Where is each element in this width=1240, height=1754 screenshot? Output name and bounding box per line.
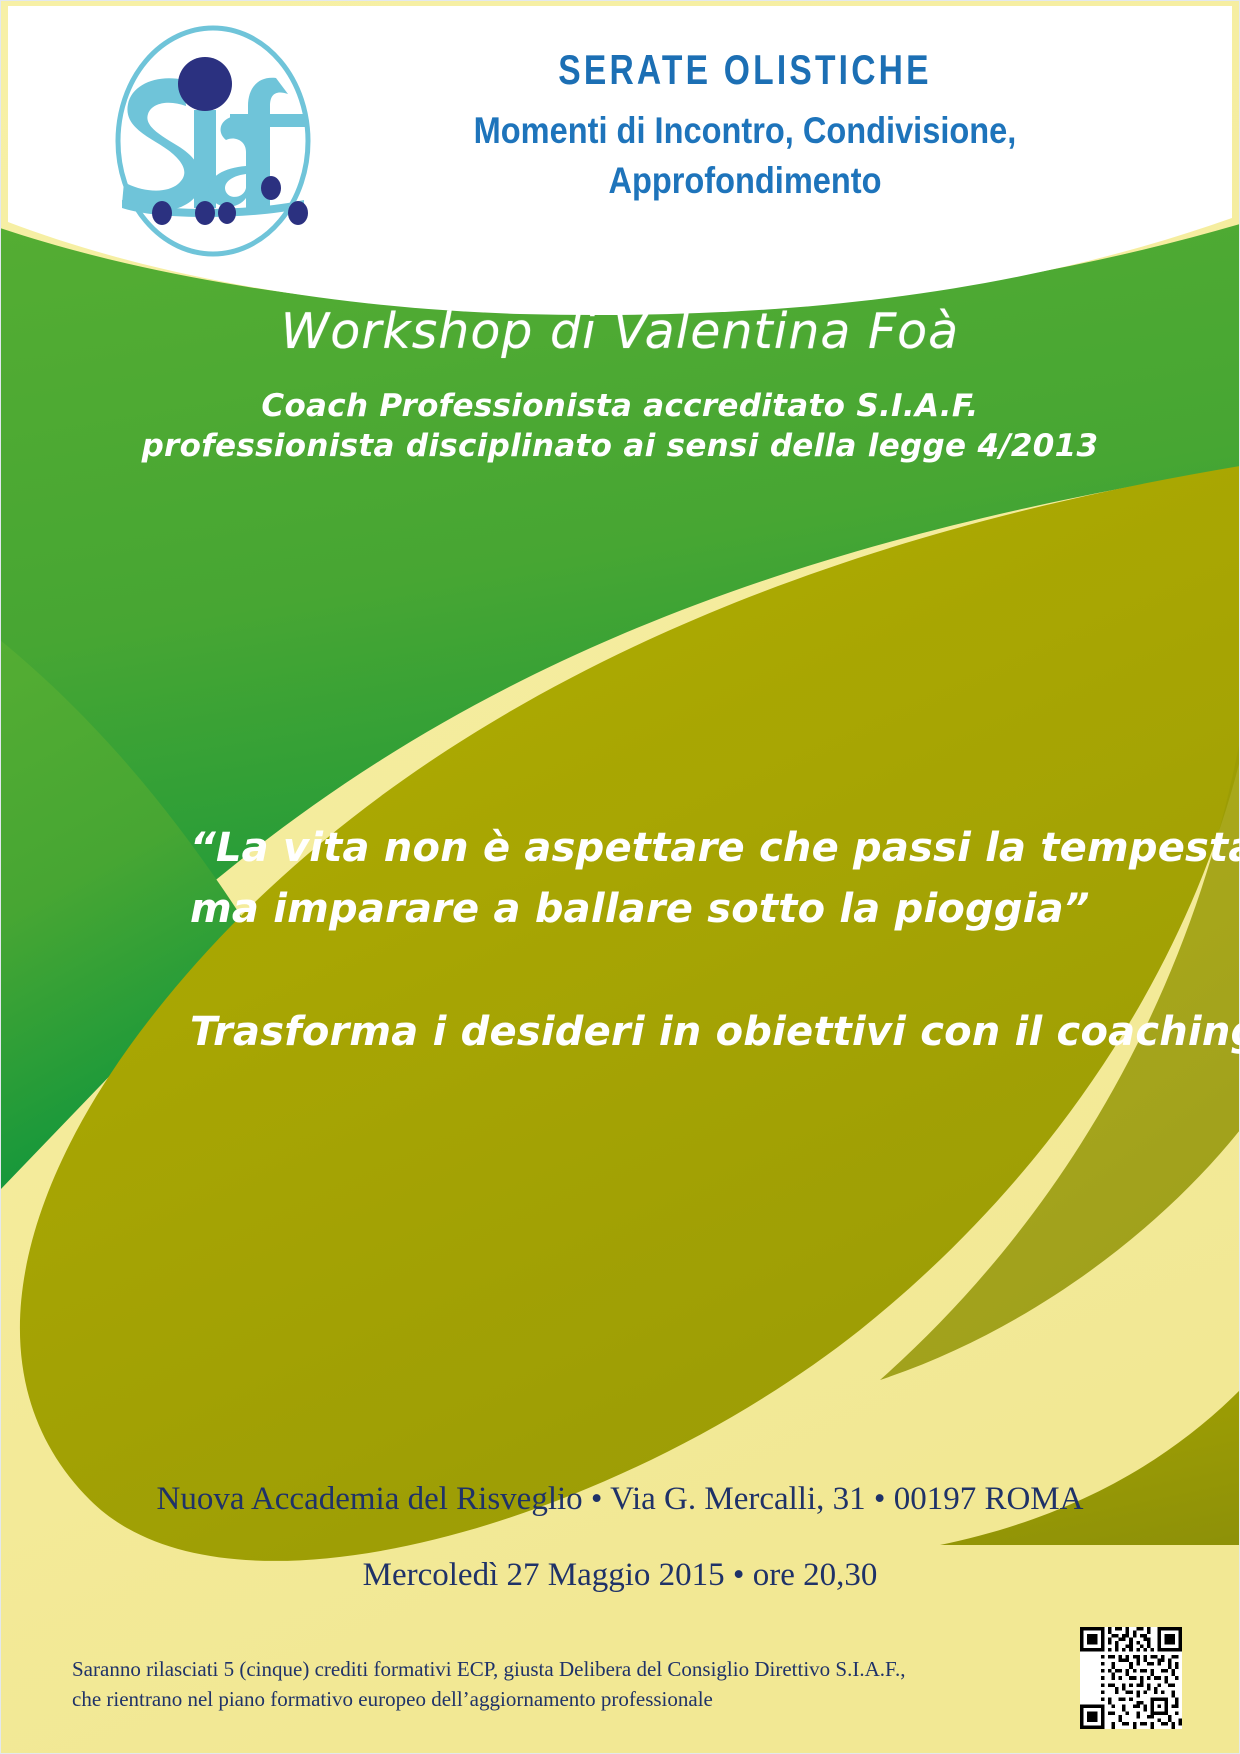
qr-code-icon[interactable]	[1080, 1627, 1182, 1729]
credits-line-1: Saranno rilasciati 5 (cinque) crediti fo…	[72, 1654, 972, 1684]
header-title-block: SERATE OLISTICHE Momenti di Incontro, Co…	[330, 48, 1160, 206]
siaf-logo	[98, 22, 328, 260]
datetime-line: Mercoledì 27 Maggio 2015 • ore 20,30	[0, 1556, 1240, 1596]
quote-line-1: “La vita non è aspettare che passi la te…	[190, 818, 1100, 879]
workshop-title: Workshop di Valentina Foà	[0, 305, 1240, 359]
footer-block: Nuova Accademia del Risveglio • Via G. M…	[0, 1480, 1240, 1595]
poster-subtitle: Momenti di Incontro, Condivisione, Appro…	[380, 106, 1110, 206]
workshop-block: Workshop di Valentina Foà Coach Professi…	[0, 305, 1240, 466]
credential-block: Coach Professionista accreditato S.I.A.F…	[0, 387, 1240, 466]
quote-line-2: ma imparare a ballare sotto la pioggia”	[190, 879, 1100, 940]
credential-line-1: Coach Professionista accreditato S.I.A.F…	[261, 388, 978, 424]
venue-line: Nuova Accademia del Risveglio • Via G. M…	[0, 1480, 1240, 1520]
poster-canvas: SERATE OLISTICHE Momenti di Incontro, Co…	[0, 0, 1240, 1754]
poster-subtitle-line-2: Approfondimento	[608, 160, 881, 201]
tagline: Trasforma i desideri in obiettivi con il…	[190, 1002, 1100, 1062]
credits-block: Saranno rilasciati 5 (cinque) crediti fo…	[72, 1654, 972, 1715]
credits-line-2: che rientrano nel piano formativo europe…	[72, 1684, 972, 1714]
poster-subtitle-line-1: Momenti di Incontro, Condivisione,	[474, 110, 1017, 151]
poster-title: SERATE OLISTICHE	[413, 48, 1077, 92]
credential-line-2: professionista disciplinato ai sensi del…	[0, 427, 1240, 467]
poster-header: SERATE OLISTICHE Momenti di Incontro, Co…	[0, 0, 1240, 300]
quote-block: “La vita non è aspettare che passi la te…	[190, 818, 1100, 1062]
